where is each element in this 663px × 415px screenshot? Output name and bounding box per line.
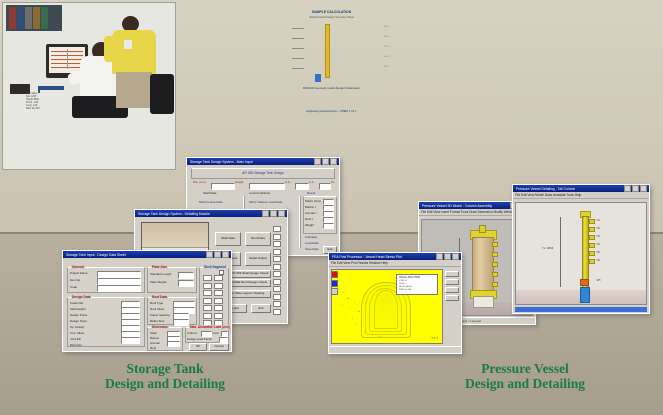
column-nozzle: [589, 219, 595, 224]
dialog-tank-design-data[interactable]: Storage Tank Input - Design Data Sheet G…: [62, 250, 232, 352]
slide-canvas: ENGINEERING CAPABILITY Storage Tank Farm…: [0, 0, 663, 415]
group-label: General: [71, 265, 85, 269]
fea-viewport[interactable]: NODAL SOLUTION STEP=1 SUB =1 SEQV (AVG) …: [331, 269, 443, 344]
tick-label: EL. 4: [385, 56, 390, 58]
group-label: Dimension: [151, 325, 169, 329]
field-input[interactable]: [319, 183, 331, 190]
legend-row: SEQV (AVG): [399, 286, 412, 288]
button-roof-data[interactable]: Roof Data: [245, 232, 271, 246]
tick-label: MH: [597, 279, 601, 282]
button-shell-data[interactable]: Shell Data: [215, 232, 241, 246]
legend-row: SUB =1: [399, 283, 407, 285]
field-label: Roof Type: [150, 301, 163, 305]
group-label: Design Data: [71, 295, 91, 299]
segment-list-left[interactable]: [203, 275, 212, 326]
tick-label: N4: [597, 243, 600, 246]
menubar[interactable]: File Edit View Plot Results Window Help: [329, 260, 461, 267]
fea-side-buttons[interactable]: [445, 271, 459, 303]
field-label: Item No.: [70, 278, 81, 282]
cad-viewport[interactable]: N1 N2 N3 N4 N5 N6 MH T.L. 14500: [515, 202, 647, 305]
statusbar: [329, 346, 461, 353]
field-label: Roof: [150, 346, 156, 350]
person-arm: [104, 36, 118, 62]
field-label: Dia. (mm): [193, 180, 206, 184]
group-label-right: Load Conditions: [249, 191, 270, 195]
person-body-yellow: [112, 30, 156, 74]
cancel-button[interactable]: Cancel: [209, 343, 229, 351]
header-text: API 650 Storage Tank Design: [192, 171, 334, 175]
window-controls[interactable]: [206, 251, 230, 258]
field-label: Frame Spacing: [150, 313, 170, 317]
action-button[interactable]: Save Data: [305, 247, 319, 251]
titlebar-text: Storage Tank Design System - Main Input: [188, 160, 253, 164]
cad-window-tall-column[interactable]: Pressure Vessel Detailing - Tall Column …: [512, 184, 650, 314]
legend-title: NODAL SOLUTION: [399, 276, 420, 279]
person-legs: [116, 72, 152, 108]
field-label: Ps: [331, 180, 334, 184]
field-input[interactable]: [211, 183, 235, 190]
drawing-subtitle: Vertical Vessel Design Summary Sheet: [0, 16, 663, 19]
drawing-footer: Engineering Analysis Report — SHEET 1 OF…: [6, 110, 657, 113]
result-label: Shell t (mm): [305, 199, 321, 203]
legend-row: SMN =0.118: [399, 289, 411, 291]
vessel-skirt: [473, 296, 495, 308]
titlebar-text: Storage Tank Input - Design Data Sheet: [64, 253, 126, 257]
caption-storage-tank: Storage Tank Design and Detailing: [40, 361, 290, 391]
button-detail-output[interactable]: Detail Output: [245, 252, 271, 266]
drawing-title: SAMPLE CALCULATION: [0, 10, 663, 14]
column-nozzle: [589, 251, 595, 256]
group-label-result: Result: [307, 191, 315, 195]
vessel-shell: [472, 237, 495, 295]
tick-label: N1: [597, 219, 600, 222]
field-input[interactable]: [97, 278, 141, 285]
office-chair: [150, 74, 174, 114]
result-label: Annular t: [305, 211, 317, 215]
window-controls[interactable]: [624, 185, 648, 192]
column-nozzle: [589, 243, 595, 248]
field-label: Inside Dia.: [70, 301, 84, 305]
group-label-left: Shell Data: [203, 191, 216, 195]
result-label: Bottom t: [305, 205, 316, 209]
tick-label: N2: [597, 227, 600, 230]
side-nozzle: [492, 262, 498, 267]
action-button[interactable]: Calculate: [305, 235, 317, 239]
field-input[interactable]: [121, 337, 140, 344]
legend-row: STEP=1: [399, 280, 407, 282]
result-label: Roof t: [305, 217, 313, 221]
titlebar: Storage Tank Design System - Detailing M…: [135, 210, 287, 217]
separator: [299, 196, 301, 248]
fea-toolbar[interactable]: [331, 271, 337, 297]
field-label: Roof Slope: [150, 307, 164, 311]
side-nozzle: [492, 252, 498, 257]
field-label: Joint Eff.: [70, 337, 81, 341]
ok-button[interactable]: OK: [189, 343, 207, 351]
segment-checkbox[interactable]: [219, 270, 224, 275]
tick-label: EL. 2: [385, 36, 390, 38]
scale-list[interactable]: [273, 226, 281, 315]
column-nozzle: [589, 259, 595, 264]
field-label: Uniform: [187, 331, 197, 335]
field-label: Annular: [150, 341, 160, 345]
field-input[interactable]: [97, 285, 141, 292]
field-label: Shell: [150, 331, 156, 335]
field-label: Wind Vel.: [70, 343, 82, 347]
side-nozzle: [492, 272, 498, 277]
mesh-contour: [374, 290, 398, 329]
book-pages: [40, 90, 64, 99]
field-input[interactable]: [173, 319, 189, 326]
window-controls[interactable]: [262, 210, 286, 217]
titlebar: FEA Post Processor - Vessel Head Stress …: [329, 253, 461, 260]
field-label: Project Name: [70, 271, 88, 275]
group-label: Shell Segment: [203, 265, 227, 269]
tick-label: EL. 3: [385, 46, 390, 48]
action-button[interactable]: Load Data: [305, 241, 318, 245]
titlebar: Storage Tank Input - Design Data Sheet: [63, 251, 231, 258]
column-nozzle: [589, 227, 595, 232]
titlebar-text: Storage Tank Design System - Detailing M…: [136, 212, 210, 216]
side-nozzle: [492, 242, 498, 247]
titlebar-text: Pressure Vessel Detailing - Tall Column: [514, 187, 575, 191]
field-input[interactable]: [167, 341, 180, 347]
field-label: Design Load Factor: [187, 337, 212, 341]
column-manhole: [580, 279, 589, 286]
field-label: Corr. Allow.: [70, 331, 84, 335]
list-item[interactable]: Shell Course Data: [199, 200, 222, 204]
group-label: Roof Data: [151, 295, 168, 299]
field-label: Code: [70, 285, 77, 289]
field-label: Standard Length: [150, 272, 171, 276]
group-label: Max. Allowable Load (mm): [189, 325, 231, 329]
list-item[interactable]: Wind / Seismic Load Data: [249, 200, 282, 204]
badge: [124, 40, 132, 49]
axis-triad-label: Z X Y: [432, 337, 438, 340]
tick-label: EL. 1: [385, 26, 390, 28]
side-nozzle: [492, 282, 498, 287]
tick-label: N6: [597, 259, 600, 262]
field-input[interactable]: [178, 272, 194, 279]
group-label: Plate Size: [151, 265, 168, 269]
column-skirt: [580, 287, 590, 303]
field-label: Plate Weight: [150, 280, 166, 284]
drawing-caption: DESIGN Geometry Loads Design Parameters: [0, 86, 663, 90]
button-exit[interactable]: Exit: [251, 304, 271, 313]
field-label: Design Press.: [70, 313, 88, 317]
segment-list-right[interactable]: [214, 275, 223, 326]
result-label: Weight: [305, 223, 314, 227]
tick-label: N5: [597, 251, 600, 254]
field-label: Bottom: [150, 336, 159, 340]
top-nozzle: [479, 225, 486, 233]
titlebar: Pressure Vessel Detailing - Tall Column: [513, 185, 649, 192]
field-label: S.G.: [285, 180, 291, 184]
window-controls[interactable]: [436, 253, 460, 260]
field-label: Sp. Gravity: [70, 325, 84, 329]
field-label: Shell Height: [70, 307, 86, 311]
field-label: Height: [235, 180, 243, 184]
result-value: [323, 223, 334, 229]
titlebar: Storage Tank Design System - Main Input: [187, 158, 339, 165]
dimension-line: [560, 217, 561, 287]
tick-label: N3: [597, 235, 600, 238]
dimension-label: T.L. 14500: [542, 247, 553, 250]
field-label: Rafter Size: [150, 319, 164, 323]
field-label: Conc.: [212, 331, 220, 335]
titlebar-text: FEA Post Processor - Vessel Head Stress …: [330, 255, 402, 259]
statusbar-strip: [515, 307, 647, 312]
menubar[interactable]: File Edit View Model Draw Annotate Tools…: [513, 192, 649, 199]
column-sketch: [325, 24, 330, 78]
column-nozzle: [589, 235, 595, 240]
field-label: Design Temp.: [70, 319, 88, 323]
field-label: C.A.: [309, 180, 315, 184]
field-input[interactable]: [249, 183, 285, 190]
column-base: [315, 74, 321, 82]
caption-pressure-vessel: Pressure Vessel Design and Detailing: [400, 361, 650, 391]
header-frame: API 650 Storage Tank Design: [191, 168, 335, 179]
fea-legend: NODAL SOLUTION STEP=1 SUB =1 SEQV (AVG) …: [396, 274, 438, 295]
tick-label: EL. 5: [385, 66, 390, 68]
titlebar-text: Pressure Vessel 3D Model - Column Assemb…: [420, 204, 492, 208]
field-input[interactable]: [295, 183, 309, 190]
window-controls[interactable]: [314, 158, 338, 165]
field-input[interactable]: [97, 271, 141, 278]
fea-window-head-stress[interactable]: FEA Post Processor - Vessel Head Stress …: [328, 252, 462, 354]
field-input[interactable]: [178, 280, 194, 287]
